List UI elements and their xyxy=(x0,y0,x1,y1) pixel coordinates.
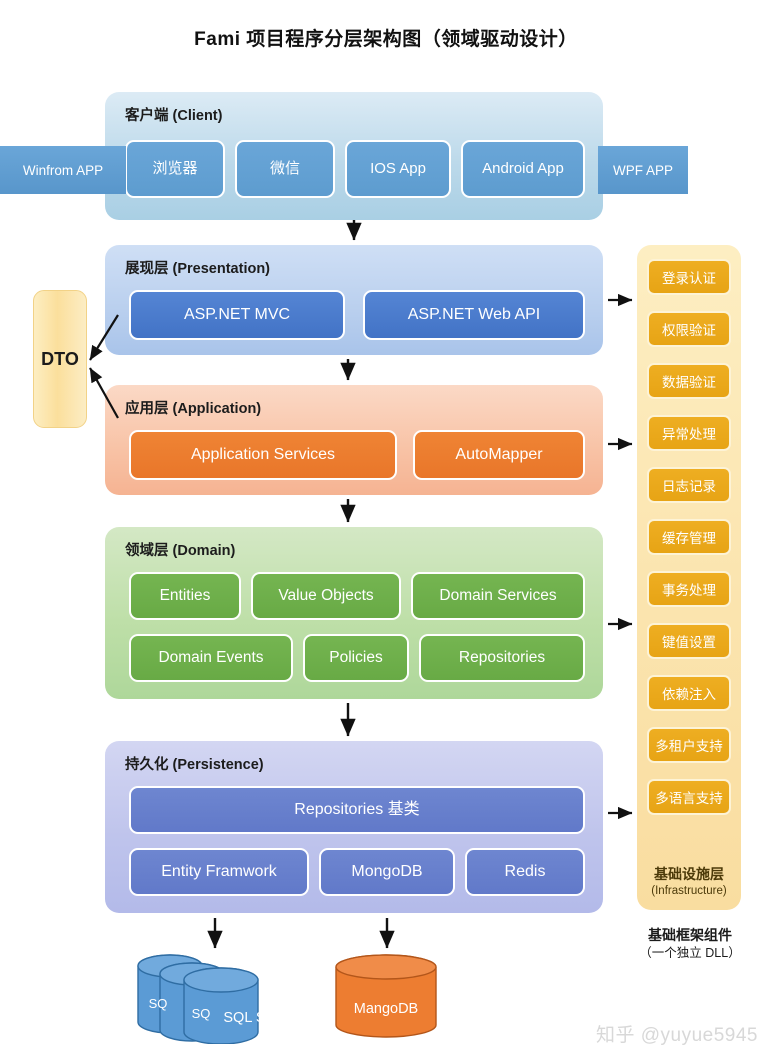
infra-item-login-auth[interactable]: 登录认证 xyxy=(647,259,731,295)
domain-item-domain-services[interactable]: Domain Services xyxy=(411,572,585,620)
dto-box[interactable]: DTO xyxy=(33,290,87,428)
infrastructure-footer-en: (Infrastructure) xyxy=(637,884,741,898)
client-layer-title: 客户端 (Client) xyxy=(125,104,222,125)
page-title: Fami 项目程序分层架构图（领域驱动设计） xyxy=(0,24,772,51)
persistence-layer: 持久化 (Persistence) Repositories 基类 Entity… xyxy=(105,741,603,913)
domain-item-entities[interactable]: Entities xyxy=(129,572,241,620)
client-item-android-app[interactable]: Android App xyxy=(461,140,585,198)
domain-item-repositories[interactable]: Repositories xyxy=(419,634,585,682)
domain-item-policies[interactable]: Policies xyxy=(303,634,409,682)
domain-item-domain-events[interactable]: Domain Events xyxy=(129,634,293,682)
infra-item-transaction[interactable]: 事务处理 xyxy=(647,571,731,607)
sql-server-label: SQL Server xyxy=(181,1010,341,1026)
client-item-wechat[interactable]: 微信 xyxy=(235,140,335,198)
infra-item-exception-handling[interactable]: 异常处理 xyxy=(647,415,731,451)
application-layer-title: 应用层 (Application) xyxy=(125,397,261,418)
infra-item-multi-language[interactable]: 多语言支持 xyxy=(647,779,731,815)
persistence-item-repositories-base[interactable]: Repositories 基类 xyxy=(129,786,585,834)
infra-item-data-validation[interactable]: 数据验证 xyxy=(647,363,731,399)
mangodb-label: MangoDB xyxy=(333,1001,439,1017)
sql-server-cylinder-icon xyxy=(134,946,294,1044)
framework-component-caption: 基础框架组件 （一个独立 DLL） xyxy=(610,926,770,962)
persistence-item-entity-framework[interactable]: Entity Framwork xyxy=(129,848,309,896)
application-item-automapper[interactable]: AutoMapper xyxy=(413,430,585,480)
mangodb-database[interactable]: MangoDB xyxy=(333,953,439,1041)
presentation-item-aspnet-web-api[interactable]: ASP.NET Web API xyxy=(363,290,585,340)
presentation-item-aspnet-mvc[interactable]: ASP.NET MVC xyxy=(129,290,345,340)
watermark: 知乎 @yuyue5945 xyxy=(596,1020,758,1047)
mangodb-cylinder-icon xyxy=(333,953,439,1041)
domain-layer-title: 领域层 (Domain) xyxy=(125,539,235,560)
infra-item-multi-tenant[interactable]: 多租户支持 xyxy=(647,727,731,763)
client-item-browser[interactable]: 浏览器 xyxy=(125,140,225,198)
persistence-item-redis[interactable]: Redis xyxy=(465,848,585,896)
wpf-app-box[interactable]: WPF APP xyxy=(598,146,688,194)
infra-item-logging[interactable]: 日志记录 xyxy=(647,467,731,503)
infrastructure-footer: 基础设施层 (Infrastructure) xyxy=(637,866,741,898)
framework-caption-cn: 基础框架组件 xyxy=(610,926,770,945)
framework-caption-en: （一个独立 DLL） xyxy=(610,945,770,962)
persistence-layer-title: 持久化 (Persistence) xyxy=(125,753,264,774)
client-item-ios-app[interactable]: IOS App xyxy=(345,140,451,198)
domain-layer: 领域层 (Domain) Entities Value Objects Doma… xyxy=(105,527,603,699)
infra-item-permission-check[interactable]: 权限验证 xyxy=(647,311,731,347)
infra-item-cache-management[interactable]: 缓存管理 xyxy=(647,519,731,555)
application-item-application-services[interactable]: Application Services xyxy=(129,430,397,480)
infrastructure-layer: 登录认证 权限验证 数据验证 异常处理 日志记录 缓存管理 事务处理 键值设置 … xyxy=(637,245,741,910)
client-layer: 客户端 (Client) 浏览器 微信 IOS App Android App xyxy=(105,92,603,220)
application-layer: 应用层 (Application) Application Services A… xyxy=(105,385,603,495)
infrastructure-footer-cn: 基础设施层 xyxy=(637,866,741,884)
infra-item-dependency-injection[interactable]: 依赖注入 xyxy=(647,675,731,711)
sql-server-database[interactable]: SQ SQ SQL Server xyxy=(134,946,294,1044)
presentation-layer: 展现层 (Presentation) ASP.NET MVC ASP.NET W… xyxy=(105,245,603,355)
persistence-item-mongodb[interactable]: MongoDB xyxy=(319,848,455,896)
infra-item-key-value-config[interactable]: 键值设置 xyxy=(647,623,731,659)
winfrom-app-box[interactable]: Winfrom APP xyxy=(0,146,126,194)
domain-item-value-objects[interactable]: Value Objects xyxy=(251,572,401,620)
presentation-layer-title: 展现层 (Presentation) xyxy=(125,257,270,278)
